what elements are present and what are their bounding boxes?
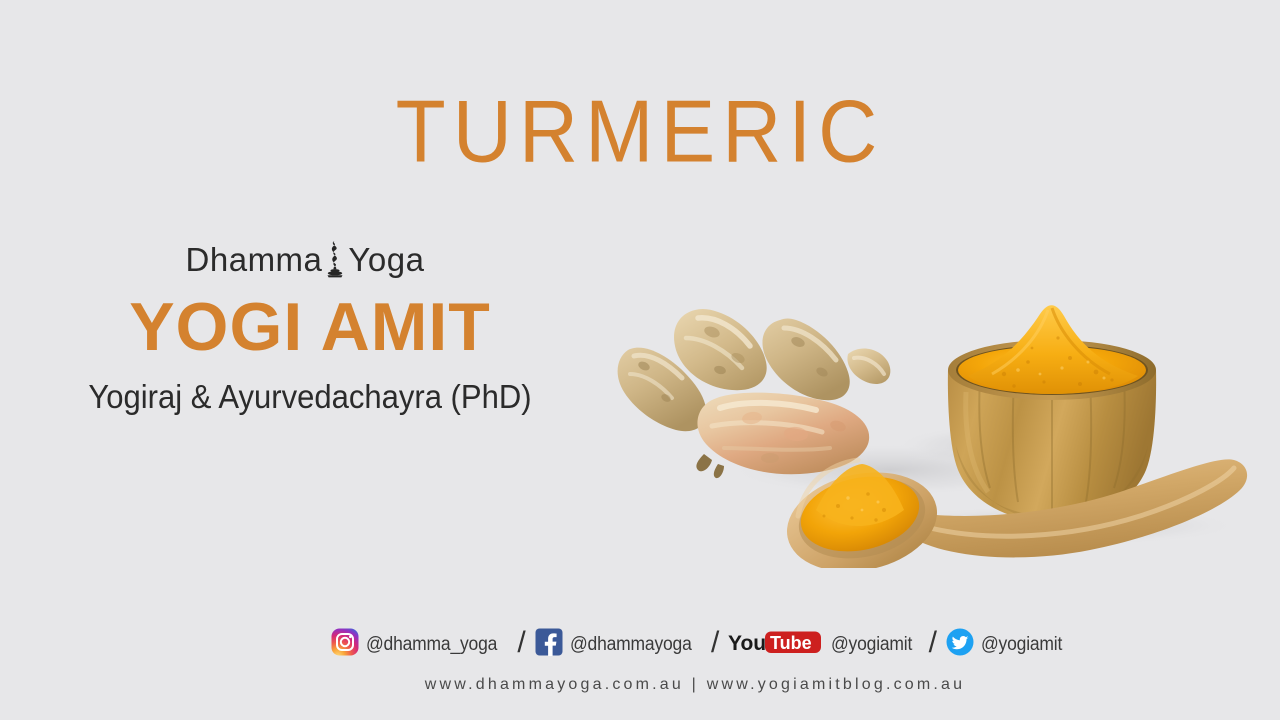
youtube-handle[interactable]: @yogiamit xyxy=(831,634,912,656)
twitter-icon[interactable] xyxy=(946,628,974,661)
turmeric-photo xyxy=(600,258,1260,568)
facebook-icon[interactable] xyxy=(535,628,563,661)
website-2[interactable]: www.yogiamitblog.com.au xyxy=(707,676,966,693)
instagram-handle[interactable]: @dhamma_yoga xyxy=(366,634,497,656)
youtube-icon[interactable]: You Tube xyxy=(728,628,824,661)
meditating-figure-icon xyxy=(324,239,346,279)
social-link-facebook[interactable]: @dhammayoga xyxy=(535,628,702,661)
slide-canvas: TURMERIC Dhamma Yoga YOGI AMIT Yogiraj &… xyxy=(0,0,1280,720)
separator-1: / xyxy=(517,628,525,658)
brand-logo-word-1: Dhamma xyxy=(186,243,323,276)
twitter-handle[interactable]: @yogiamit xyxy=(981,634,1062,656)
brand-logo-word-2: Yoga xyxy=(348,243,424,276)
social-links-row: @dhamma_yoga / @dhammayoga / You Tube xyxy=(0,628,1280,661)
footer-websites: www.dhammayoga.com.au | www.yogiamitblog… xyxy=(0,676,1280,694)
facebook-handle[interactable]: @dhammayoga xyxy=(570,634,692,656)
separator-2: / xyxy=(711,628,719,658)
presenter-block: Dhamma Yoga YOGI AMIT Yogiraj & Ayurveda… xyxy=(0,238,620,416)
youtube-wordmark-tube: Tube xyxy=(770,633,812,653)
separator-3: / xyxy=(929,628,937,658)
presenter-credentials: Yogiraj & Ayurvedachayra (PhD) xyxy=(19,379,602,415)
brand-logo: Dhamma Yoga xyxy=(0,238,620,280)
page-title: TURMERIC xyxy=(0,88,1280,177)
youtube-wordmark-you: You xyxy=(728,632,766,655)
presenter-name: YOGI AMIT xyxy=(0,292,620,363)
instagram-icon[interactable] xyxy=(331,628,359,661)
social-link-instagram[interactable]: @dhamma_yoga xyxy=(331,628,509,661)
social-link-twitter[interactable]: @yogiamit xyxy=(946,628,1069,661)
website-1[interactable]: www.dhammayoga.com.au xyxy=(425,676,684,693)
social-link-youtube[interactable]: You Tube @yogiamit xyxy=(728,628,919,661)
footer-divider: | xyxy=(692,676,699,693)
